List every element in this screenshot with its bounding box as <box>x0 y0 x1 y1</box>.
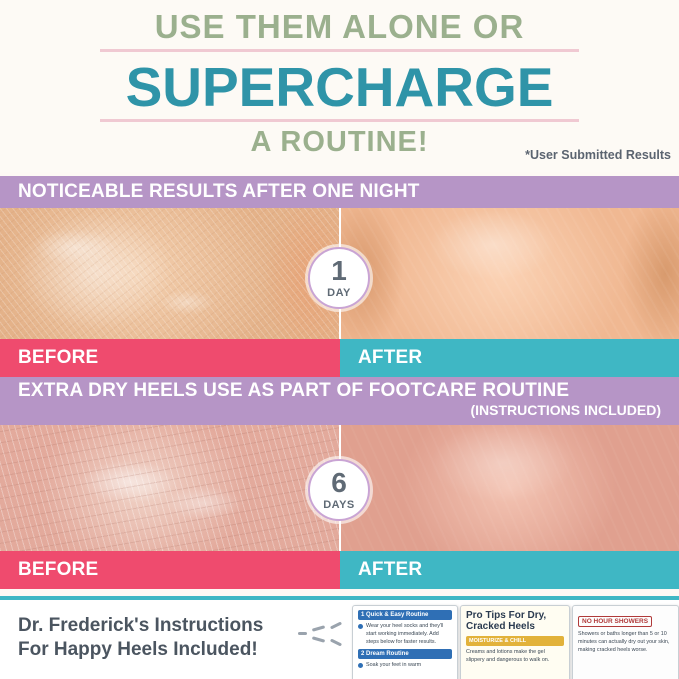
section-2-before-label: BEFORE <box>0 551 340 589</box>
extra-dry-heel-image <box>0 425 340 551</box>
card-3-tag: NO HOUR SHOWERS <box>578 616 652 627</box>
card-2-body: Creams and lotions make the gel slippery… <box>466 649 564 665</box>
section-1-before-label: BEFORE <box>0 339 340 377</box>
dry-cracked-heel-image <box>0 208 340 339</box>
section-1-after-label: AFTER <box>340 339 679 377</box>
duration-badge-2-number: 6 <box>331 469 347 497</box>
header-rule-top <box>100 49 579 52</box>
bullet-icon <box>358 663 363 668</box>
healed-heel-image <box>340 425 679 551</box>
card-2-tag: MOISTURIZE & CHILL <box>466 636 564 646</box>
duration-badge-2: 6 DAYS <box>308 459 370 521</box>
section-1-before-photo <box>0 208 340 339</box>
bullet-icon <box>358 624 363 629</box>
footer-section: Dr. Frederick's Instructions For Happy H… <box>0 596 679 679</box>
section-1-banner-title: NOTICEABLE RESULTS AFTER ONE NIGHT <box>18 181 420 203</box>
header-line-1: USE THEM ALONE OR <box>0 8 679 46</box>
header-rule-bottom <box>100 119 579 122</box>
footer-text: Dr. Frederick's Instructions For Happy H… <box>18 614 298 663</box>
dashed-arrow-icon <box>298 624 346 646</box>
footer-line-1: Dr. Frederick's Instructions <box>18 614 298 638</box>
instruction-cards: 1 Quick & Easy Routine Wear your heel so… <box>352 605 679 679</box>
duration-badge-1-unit: DAY <box>327 287 351 299</box>
section-2-banner: EXTRA DRY HEELS USE AS PART OF FOOTCARE … <box>0 377 679 425</box>
duration-badge-2-unit: DAYS <box>323 499 355 511</box>
card-2-title: Pro Tips For Dry, Cracked Heels <box>466 610 564 632</box>
instruction-card-routine: 1 Quick & Easy Routine Wear your heel so… <box>352 605 458 679</box>
section-2-after-label: AFTER <box>340 551 679 589</box>
card-1-item-3-text: Soak your feet in warm <box>366 662 421 670</box>
card-3-body: Showers or baths longer than 5 or 10 min… <box>578 631 673 654</box>
card-1-item-1: Wear your heel socks and they'll start w… <box>358 623 452 646</box>
card-1-header: 1 Quick & Easy Routine <box>358 610 452 620</box>
disclaimer-note: *User Submitted Results <box>525 148 671 162</box>
section-1-banner: NOTICEABLE RESULTS AFTER ONE NIGHT <box>0 176 679 208</box>
section-2-banner-subtitle: (INSTRUCTIONS INCLUDED) <box>470 402 661 418</box>
duration-badge-1: 1 DAY <box>308 247 370 309</box>
section-2-before-photo <box>0 425 340 551</box>
duration-badge-1-number: 1 <box>331 257 347 285</box>
section-2-after-photo <box>340 425 679 551</box>
smooth-heel-image <box>340 208 679 339</box>
header-line-2: SUPERCHARGE <box>0 55 679 119</box>
section-2-banner-title: EXTRA DRY HEELS USE AS PART OF FOOTCARE … <box>18 380 569 402</box>
header-section: USE THEM ALONE OR SUPERCHARGE A ROUTINE!… <box>0 0 679 172</box>
card-1-item-1-text: Wear your heel socks and they'll start w… <box>366 623 452 646</box>
section-1-after-photo <box>340 208 679 339</box>
instruction-card-protips: Pro Tips For Dry, Cracked Heels MOISTURI… <box>460 605 570 679</box>
promo-image: USE THEM ALONE OR SUPERCHARGE A ROUTINE!… <box>0 0 679 679</box>
card-1-item-3: Soak your feet in warm <box>358 662 452 670</box>
instruction-card-showers: NO HOUR SHOWERS Showers or baths longer … <box>572 605 679 679</box>
footer-line-2: For Happy Heels Included! <box>18 638 298 662</box>
card-1-subheader: 2 Dream Routine <box>358 649 452 659</box>
